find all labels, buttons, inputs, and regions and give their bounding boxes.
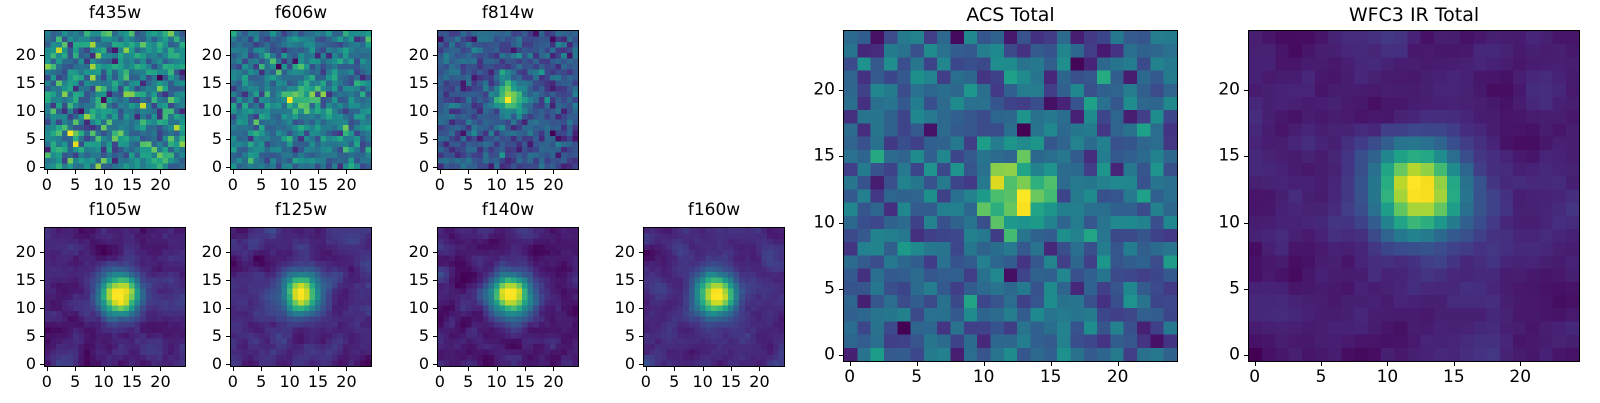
x-tick-mark — [553, 170, 554, 174]
x-tick-label: 15 — [122, 374, 142, 390]
y-tick-label: 15 — [391, 272, 429, 288]
y-tick-mark — [433, 364, 437, 365]
y-tick-label: 0 — [597, 356, 635, 372]
y-tick-mark — [1244, 90, 1248, 91]
panel-f125w: f125w0510152005101520 — [184, 199, 418, 403]
y-tick-mark — [226, 139, 230, 140]
y-tick-mark — [226, 280, 230, 281]
y-tick-label: 0 — [0, 159, 36, 175]
y-tick-label: 5 — [1202, 280, 1240, 297]
x-tick-label: 15 — [1443, 369, 1465, 386]
x-tick-mark — [290, 170, 291, 174]
y-tick-mark — [226, 83, 230, 84]
y-tick-mark — [839, 156, 843, 157]
x-tick-label: 20 — [749, 374, 769, 390]
y-tick-mark — [839, 223, 843, 224]
y-tick-label: 20 — [797, 81, 835, 98]
y-tick-mark — [433, 55, 437, 56]
x-tick-label: 20 — [150, 177, 170, 193]
y-tick-mark — [639, 252, 643, 253]
x-tick-label: 5 — [463, 177, 473, 193]
y-tick-mark — [1244, 156, 1248, 157]
panel-title: f435w — [44, 5, 186, 22]
y-tick-mark — [1244, 289, 1248, 290]
y-tick-label: 20 — [0, 244, 36, 260]
x-tick-mark — [1387, 362, 1388, 366]
y-tick-mark — [226, 308, 230, 309]
x-tick-mark — [261, 170, 262, 174]
x-tick-label: 15 — [308, 177, 328, 193]
x-tick-label: 15 — [721, 374, 741, 390]
x-tick-label: 5 — [911, 369, 922, 386]
x-tick-mark — [290, 367, 291, 371]
x-tick-mark — [318, 170, 319, 174]
x-tick-mark — [1454, 362, 1455, 366]
y-tick-label: 0 — [391, 356, 429, 372]
panel-title: f125w — [230, 202, 372, 219]
y-tick-label: 10 — [0, 103, 36, 119]
y-tick-label: 15 — [1202, 148, 1240, 165]
y-tick-label: 20 — [0, 47, 36, 63]
x-tick-label: 15 — [515, 177, 535, 193]
y-tick-mark — [639, 280, 643, 281]
y-tick-mark — [433, 308, 437, 309]
y-tick-label: 15 — [797, 148, 835, 165]
y-tick-mark — [433, 139, 437, 140]
y-tick-mark — [40, 139, 44, 140]
x-tick-label: 10 — [279, 374, 299, 390]
y-tick-label: 5 — [0, 131, 36, 147]
y-tick-label: 5 — [391, 131, 429, 147]
heatmap-image-f140w[interactable] — [437, 227, 579, 367]
x-tick-label: 20 — [543, 177, 563, 193]
y-tick-label: 20 — [391, 244, 429, 260]
panel-f160w: f160w0510152005101520 — [597, 199, 831, 403]
y-tick-label: 20 — [597, 244, 635, 260]
x-tick-mark — [525, 367, 526, 371]
y-tick-label: 20 — [1202, 81, 1240, 98]
y-tick-mark — [226, 364, 230, 365]
y-tick-mark — [40, 252, 44, 253]
x-tick-mark — [75, 367, 76, 371]
panel-acs-total: ACS Total0510152005101520 — [797, 2, 1224, 398]
y-tick-mark — [1244, 223, 1248, 224]
x-tick-label: 5 — [1316, 369, 1327, 386]
y-tick-mark — [226, 167, 230, 168]
y-tick-label: 5 — [0, 328, 36, 344]
x-tick-label: 20 — [1107, 369, 1129, 386]
x-tick-label: 15 — [122, 177, 142, 193]
x-tick-label: 5 — [256, 374, 266, 390]
y-tick-mark — [40, 364, 44, 365]
x-tick-mark — [917, 362, 918, 366]
y-tick-mark — [639, 308, 643, 309]
y-tick-mark — [226, 336, 230, 337]
x-tick-mark — [132, 170, 133, 174]
x-tick-mark — [261, 367, 262, 371]
x-tick-mark — [1520, 362, 1521, 366]
y-tick-mark — [433, 83, 437, 84]
y-tick-label: 0 — [1202, 347, 1240, 364]
x-tick-label: 20 — [1509, 369, 1531, 386]
x-tick-label: 10 — [93, 374, 113, 390]
y-tick-mark — [433, 280, 437, 281]
x-tick-label: 5 — [669, 374, 679, 390]
y-tick-mark — [839, 355, 843, 356]
x-tick-mark — [468, 170, 469, 174]
x-tick-label: 15 — [308, 374, 328, 390]
x-tick-label: 10 — [973, 369, 995, 386]
y-tick-label: 5 — [597, 328, 635, 344]
x-tick-mark — [440, 170, 441, 174]
panel-title: f606w — [230, 5, 372, 22]
y-tick-label: 10 — [391, 300, 429, 316]
x-tick-label: 5 — [70, 374, 80, 390]
y-tick-label: 20 — [184, 244, 222, 260]
heatmap-image-acs-total[interactable] — [843, 30, 1178, 362]
heatmap-image-f160w[interactable] — [643, 227, 785, 367]
x-tick-mark — [160, 367, 161, 371]
y-tick-mark — [839, 90, 843, 91]
y-tick-mark — [639, 364, 643, 365]
y-tick-label: 0 — [391, 159, 429, 175]
y-tick-mark — [433, 252, 437, 253]
y-tick-mark — [639, 336, 643, 337]
x-tick-label: 15 — [515, 374, 535, 390]
y-tick-mark — [433, 336, 437, 337]
y-tick-label: 0 — [0, 356, 36, 372]
x-tick-mark — [731, 367, 732, 371]
x-tick-mark — [47, 170, 48, 174]
x-tick-mark — [984, 362, 985, 366]
y-tick-mark — [433, 167, 437, 168]
y-tick-label: 10 — [391, 103, 429, 119]
x-tick-label: 20 — [336, 374, 356, 390]
panel-title: f105w — [44, 202, 186, 219]
y-tick-mark — [40, 280, 44, 281]
x-tick-mark — [1118, 362, 1119, 366]
x-tick-label: 0 — [228, 177, 238, 193]
x-tick-label: 10 — [692, 374, 712, 390]
y-tick-mark — [839, 289, 843, 290]
panel-f140w: f140w0510152005101520 — [391, 199, 625, 403]
x-tick-label: 0 — [641, 374, 651, 390]
x-tick-label: 5 — [463, 374, 473, 390]
x-tick-label: 10 — [486, 177, 506, 193]
y-tick-label: 10 — [184, 103, 222, 119]
x-tick-mark — [346, 170, 347, 174]
panel-wfc3-ir-total: WFC3 IR Total0510152005101520 — [1202, 2, 1600, 398]
x-tick-mark — [440, 367, 441, 371]
y-tick-label: 15 — [0, 75, 36, 91]
x-tick-mark — [674, 367, 675, 371]
y-tick-mark — [40, 111, 44, 112]
y-tick-label: 0 — [797, 347, 835, 364]
x-tick-mark — [468, 367, 469, 371]
x-tick-mark — [47, 367, 48, 371]
x-tick-mark — [553, 367, 554, 371]
x-tick-mark — [132, 367, 133, 371]
x-tick-mark — [318, 367, 319, 371]
panel-title: ACS Total — [843, 6, 1178, 25]
heatmap-image-f125w[interactable] — [230, 227, 372, 367]
y-tick-label: 10 — [797, 214, 835, 231]
y-tick-label: 10 — [597, 300, 635, 316]
y-tick-label: 15 — [184, 75, 222, 91]
y-tick-label: 5 — [184, 131, 222, 147]
x-tick-label: 5 — [256, 177, 266, 193]
x-tick-mark — [104, 367, 105, 371]
y-tick-label: 5 — [797, 280, 835, 297]
heatmap-image-wfc3-ir-total[interactable] — [1248, 30, 1580, 362]
x-tick-mark — [75, 170, 76, 174]
x-tick-mark — [759, 367, 760, 371]
y-tick-mark — [433, 111, 437, 112]
x-tick-label: 0 — [435, 374, 445, 390]
y-tick-label: 10 — [184, 300, 222, 316]
x-tick-mark — [646, 367, 647, 371]
panel-title: WFC3 IR Total — [1248, 6, 1580, 25]
x-tick-mark — [1051, 362, 1052, 366]
x-tick-mark — [850, 362, 851, 366]
panel-f814w: f814w0510152005101520 — [391, 2, 625, 206]
panel-title: f160w — [643, 202, 785, 219]
x-tick-label: 10 — [93, 177, 113, 193]
y-tick-mark — [226, 111, 230, 112]
panel-f606w: f606w0510152005101520 — [184, 2, 418, 206]
figure-canvas: f435w0510152005101520f606w05101520051015… — [0, 0, 1600, 400]
y-tick-label: 15 — [184, 272, 222, 288]
x-tick-label: 0 — [844, 369, 855, 386]
y-tick-label: 15 — [597, 272, 635, 288]
y-tick-label: 10 — [1202, 214, 1240, 231]
panel-title: f814w — [437, 5, 579, 22]
y-tick-label: 20 — [391, 47, 429, 63]
heatmap-image-f814w[interactable] — [437, 30, 579, 170]
x-tick-mark — [703, 367, 704, 371]
x-tick-label: 0 — [42, 374, 52, 390]
x-tick-label: 20 — [336, 177, 356, 193]
x-tick-label: 0 — [435, 177, 445, 193]
x-tick-label: 0 — [228, 374, 238, 390]
x-tick-label: 20 — [543, 374, 563, 390]
x-tick-label: 5 — [70, 177, 80, 193]
x-tick-mark — [160, 170, 161, 174]
y-tick-mark — [1244, 355, 1248, 356]
y-tick-label: 0 — [184, 356, 222, 372]
y-tick-label: 15 — [0, 272, 36, 288]
x-tick-mark — [525, 170, 526, 174]
x-tick-label: 20 — [150, 374, 170, 390]
heatmap-image-f105w[interactable] — [44, 227, 186, 367]
x-tick-mark — [497, 367, 498, 371]
y-tick-mark — [40, 308, 44, 309]
x-tick-mark — [104, 170, 105, 174]
x-tick-mark — [1255, 362, 1256, 366]
x-tick-label: 15 — [1040, 369, 1062, 386]
x-tick-mark — [233, 170, 234, 174]
y-tick-label: 5 — [391, 328, 429, 344]
x-tick-label: 0 — [1249, 369, 1260, 386]
y-tick-mark — [40, 55, 44, 56]
y-tick-label: 15 — [391, 75, 429, 91]
heatmap-image-f606w[interactable] — [230, 30, 372, 170]
x-tick-mark — [497, 170, 498, 174]
x-tick-label: 10 — [1377, 369, 1399, 386]
y-tick-mark — [40, 83, 44, 84]
panel-title: f140w — [437, 202, 579, 219]
x-tick-label: 10 — [486, 374, 506, 390]
x-tick-mark — [1321, 362, 1322, 366]
y-tick-label: 20 — [184, 47, 222, 63]
heatmap-image-f435w[interactable] — [44, 30, 186, 170]
x-tick-label: 0 — [42, 177, 52, 193]
y-tick-label: 0 — [184, 159, 222, 175]
x-tick-mark — [346, 367, 347, 371]
y-tick-mark — [40, 167, 44, 168]
y-tick-mark — [226, 55, 230, 56]
y-tick-mark — [226, 252, 230, 253]
x-tick-label: 10 — [279, 177, 299, 193]
y-tick-label: 10 — [0, 300, 36, 316]
x-tick-mark — [233, 367, 234, 371]
y-tick-mark — [40, 336, 44, 337]
y-tick-label: 5 — [184, 328, 222, 344]
